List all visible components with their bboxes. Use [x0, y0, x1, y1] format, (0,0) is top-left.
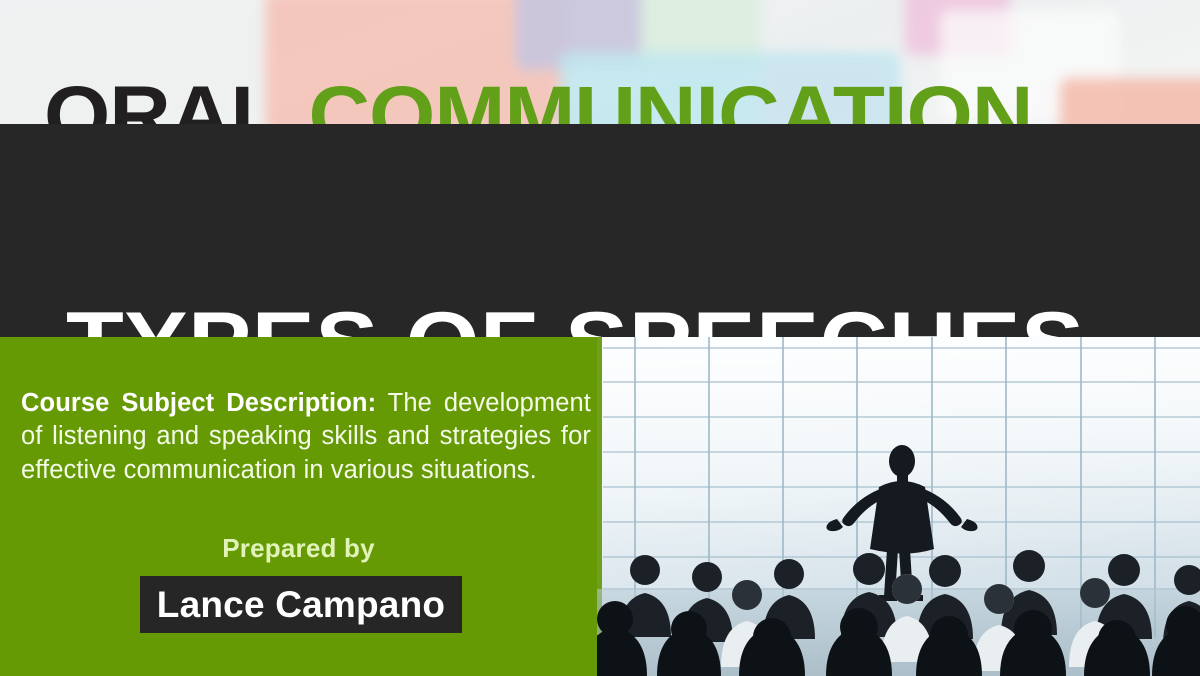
author-name: Lance Campano: [157, 586, 445, 623]
author-name-box: Lance Campano: [140, 576, 462, 633]
window-grid-icon: [597, 337, 1200, 676]
course-description-label: Course Subject Description:: [21, 389, 376, 417]
course-description: Course Subject Description: The developm…: [21, 387, 591, 489]
page-title-word-secondary: COMMUNICATION: [308, 75, 1032, 124]
description-panel: Course Subject Description: The developm…: [0, 337, 597, 676]
subtitle-banner: TYPES OF SPEECHES: [0, 124, 1200, 337]
prepared-by-label: Prepared by: [0, 533, 597, 564]
page-title: ORAL COMMUNICATION: [44, 63, 1200, 124]
title-band: ORAL COMMUNICATION: [0, 0, 1200, 124]
slide-root: ORAL COMMUNICATION TYPES OF SPEECHES Cou…: [0, 0, 1200, 676]
speaker-audience-photo: [597, 337, 1200, 676]
page-title-word-primary: ORAL: [44, 75, 281, 124]
